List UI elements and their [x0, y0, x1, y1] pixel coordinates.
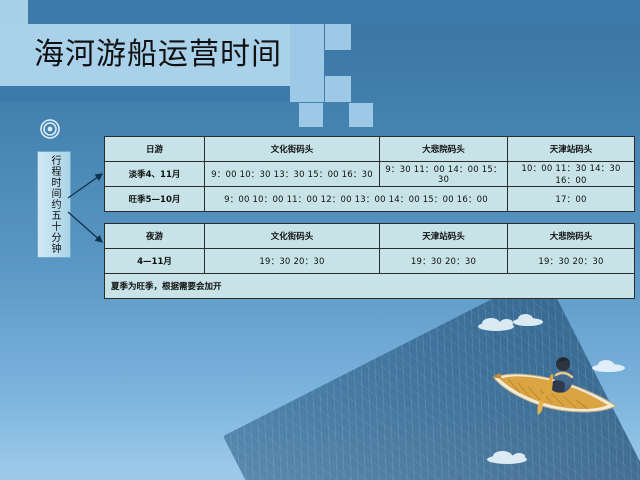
day-schedule-table: 日游 文化街码头 大悲院码头 天津站码头 淡季4、11月 9：00 10：30 …	[104, 136, 635, 212]
times-tianjinzhan-low: 10：00 11：30 14：30 16：00	[508, 162, 635, 187]
night-schedule-table: 夜游 文化街码头 天津站码头 大悲院码头 4—11月 19：30 20：30 1…	[104, 223, 635, 299]
night-table-header-cell: 文化街码头	[205, 224, 380, 249]
table-header-row: 夜游 文化街码头 天津站码头 大悲院码头	[105, 224, 635, 249]
cloud-decoration	[487, 455, 527, 464]
day-table-header-cell: 文化街码头	[205, 137, 380, 162]
header-square-decoration	[325, 76, 351, 102]
page-title: 海河游船运营时间	[34, 34, 282, 76]
night-times-dabeiyuan: 19：30 20：30	[508, 249, 635, 274]
rowboat-illustration	[490, 348, 625, 428]
slide-canvas: 海河游船运营时间 行程时间约五十分钟 日游	[0, 0, 640, 480]
night-month-range: 4—11月	[105, 249, 205, 274]
day-table-header-cell: 日游	[105, 137, 205, 162]
night-table-header-cell: 大悲院码头	[508, 224, 635, 249]
times-peak-last: 17：00	[508, 187, 635, 212]
times-peak-merged: 9：00 10：00 11：00 12：00 13：00 14：00 15：00…	[205, 187, 508, 212]
night-table-header-cell: 天津站码头	[380, 224, 508, 249]
times-wenhuajie-low: 9：00 10：30 13：30 15：00 16：30	[205, 162, 380, 187]
cloud-decoration	[513, 318, 543, 326]
night-table-header-cell: 夜游	[105, 224, 205, 249]
peak-season-note: 夏季为旺季，根据需要会加开	[105, 274, 635, 299]
night-times-wenhuajie: 19：30 20：30	[205, 249, 380, 274]
day-table-header-cell: 天津站码头	[508, 137, 635, 162]
header-square-decoration	[299, 103, 323, 127]
day-table-header-cell: 大悲院码头	[380, 137, 508, 162]
header-square-decoration	[290, 24, 324, 102]
season-label-high: 旺季5—10月	[105, 187, 205, 212]
header-square-decoration	[349, 103, 373, 127]
table-row: 4—11月 19：30 20：30 19：30 20：30 19：30 20：3…	[105, 249, 635, 274]
table-header-row: 日游 文化街码头 大悲院码头 天津站码头	[105, 137, 635, 162]
header-square-decoration	[325, 24, 351, 50]
table-row: 旺季5—10月 9：00 10：00 11：00 12：00 13：00 14：…	[105, 187, 635, 212]
header-lower-band	[0, 86, 296, 102]
cloud-decoration	[478, 322, 514, 331]
times-dabeiyuan-low: 9：30 11：00 14：00 15：30	[380, 162, 508, 187]
header-band	[0, 0, 640, 24]
target-icon	[40, 119, 60, 139]
table-row: 淡季4、11月 9：00 10：30 13：30 15：00 16：30 9：3…	[105, 162, 635, 187]
table-note-row: 夏季为旺季，根据需要会加开	[105, 274, 635, 299]
header-accent-strip	[0, 0, 28, 24]
night-times-tianjinzhan: 19：30 20：30	[380, 249, 508, 274]
journey-duration-text: 行程时间约五十分钟	[48, 155, 60, 254]
season-label-low: 淡季4、11月	[105, 162, 205, 187]
